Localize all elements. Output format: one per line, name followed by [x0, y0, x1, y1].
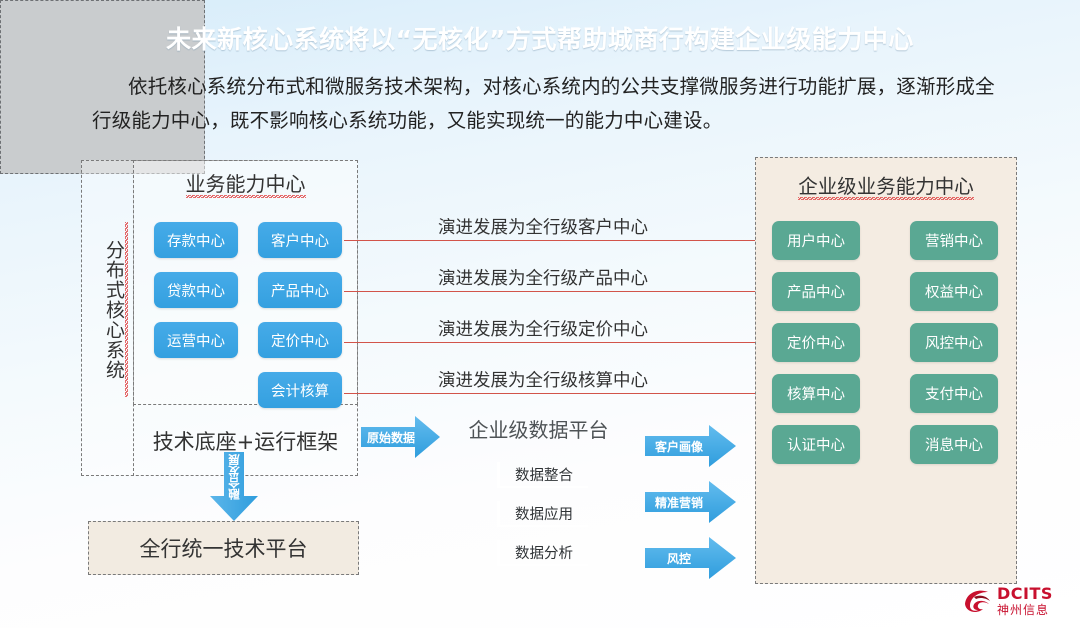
data-item-integration[interactable]: 数据整合	[497, 462, 588, 488]
blue-box-pricing[interactable]: 定价中心	[258, 322, 342, 358]
logo-en-text: DCITS	[997, 586, 1053, 602]
connector-line-2	[344, 291, 760, 292]
merge-development-arrow-label: 融合发展	[219, 454, 249, 500]
connector-line-4	[344, 393, 760, 394]
enterprise-panel-title: 企业级业务能力中心	[755, 170, 1017, 199]
distributed-core-system-label: 分布式核心系统	[96, 222, 128, 397]
green-box-auth[interactable]: 认证中心	[772, 425, 860, 464]
green-box-pricing[interactable]: 定价中心	[772, 323, 860, 362]
blue-box-operations[interactable]: 运营中心	[154, 322, 238, 358]
green-box-marketing[interactable]: 营销中心	[910, 221, 998, 260]
green-box-payment[interactable]: 支付中心	[910, 374, 998, 413]
risk-control-arrow-label: 风控	[647, 536, 711, 580]
connector-line-1	[344, 240, 760, 241]
blue-box-accounting[interactable]: 会计核算	[258, 372, 342, 408]
blue-box-customer[interactable]: 客户中心	[258, 222, 342, 258]
green-box-rights[interactable]: 权益中心	[910, 272, 998, 311]
customer-profile-arrow-label: 客户画像	[647, 424, 711, 468]
unified-tech-platform-box: 全行统一技术平台	[88, 521, 359, 575]
precision-marketing-arrow-label: 精准营销	[647, 480, 711, 524]
blue-box-loan[interactable]: 贷款中心	[154, 272, 238, 308]
green-box-accounting[interactable]: 核算中心	[772, 374, 860, 413]
page-title: 未来新核心系统将以“无核化”方式帮助城商行构建企业级能力中心	[0, 20, 1080, 56]
connector-line-3	[344, 342, 760, 343]
data-item-analysis[interactable]: 数据分析	[497, 540, 588, 566]
blue-box-product[interactable]: 产品中心	[258, 272, 342, 308]
page-subtitle: 依托核心系统分布式和微服务技术架构，对核心系统内的公共支撑微服务进行功能扩展，逐…	[92, 70, 997, 138]
connector-label-3: 演进发展为全行级定价中心	[438, 316, 648, 341]
slide-canvas: 未来新核心系统将以“无核化”方式帮助城商行构建企业级能力中心 依托核心系统分布式…	[0, 0, 1080, 628]
connector-label-1: 演进发展为全行级客户中心	[438, 214, 648, 239]
raw-data-arrow-label: 原始数据	[363, 415, 419, 459]
green-box-user[interactable]: 用户中心	[772, 221, 860, 260]
logo-cn-text: 神州信息	[997, 604, 1053, 616]
green-box-message[interactable]: 消息中心	[910, 425, 998, 464]
connector-label-4: 演进发展为全行级核算中心	[438, 367, 648, 392]
enterprise-data-platform-title: 企业级数据平台	[437, 414, 640, 443]
business-capability-center-title: 业务能力中心	[133, 168, 358, 197]
green-box-product[interactable]: 产品中心	[772, 272, 860, 311]
company-logo: DCITS 神州信息	[962, 580, 1072, 622]
blue-box-deposit[interactable]: 存款中心	[154, 222, 238, 258]
dcits-swirl-icon	[962, 585, 994, 617]
green-box-risk[interactable]: 风控中心	[910, 323, 998, 362]
data-item-application[interactable]: 数据应用	[497, 501, 588, 527]
connector-label-2: 演进发展为全行级产品中心	[438, 265, 648, 290]
